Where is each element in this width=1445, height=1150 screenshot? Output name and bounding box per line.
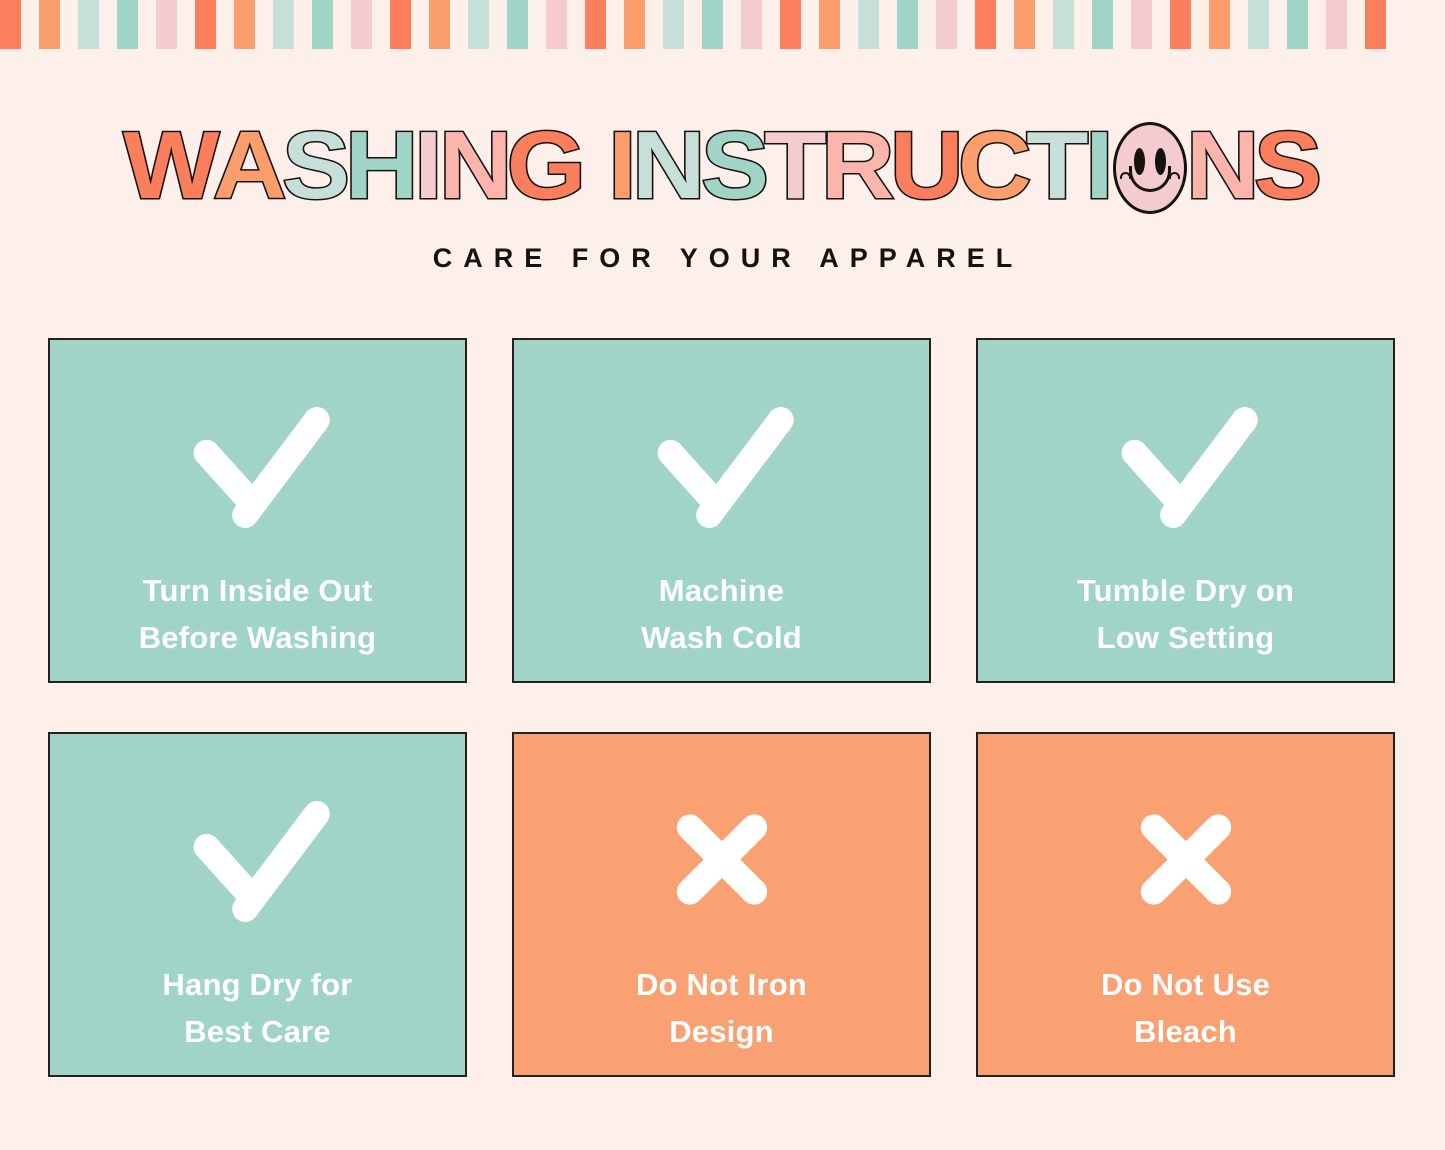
- care-card-5: Do Not IronDesign: [512, 732, 931, 1077]
- title-letter-w-0: W: [123, 118, 218, 214]
- stripe: [1209, 0, 1230, 49]
- smiley-face-icon: [1113, 122, 1187, 214]
- title-letter-n-18: N: [1186, 118, 1258, 214]
- stripe-gap: [372, 0, 390, 49]
- stripe-gap: [918, 0, 936, 49]
- stripe: [858, 0, 879, 49]
- stripe-gap: [1308, 0, 1326, 49]
- stripe: [1053, 0, 1074, 49]
- care-card-line-1: Turn Inside Out: [139, 568, 377, 615]
- stripe-gap: [1152, 0, 1170, 49]
- stripe: [390, 0, 411, 49]
- stripe-gap: [645, 0, 663, 49]
- stripe-gap: [528, 0, 546, 49]
- care-card-6: Do Not UseBleach: [976, 732, 1395, 1077]
- title-letters: WASHINGINSTRUCTINS: [126, 118, 1319, 214]
- stripe: [546, 0, 567, 49]
- stripe-gap: [957, 0, 975, 49]
- stripe-gap: [1074, 0, 1092, 49]
- care-instructions-grid: Turn Inside OutBefore WashingMachineWash…: [48, 338, 1398, 1077]
- stripe-gap: [1347, 0, 1365, 49]
- stripe: [1131, 0, 1152, 49]
- decorative-stripe-band: [0, 0, 1445, 49]
- stripe: [312, 0, 333, 49]
- stripe-gap: [1386, 0, 1404, 49]
- stripe-gap: [333, 0, 351, 49]
- stripe: [39, 0, 60, 49]
- care-card-2: MachineWash Cold: [512, 338, 931, 683]
- stripe: [195, 0, 216, 49]
- stripe-gap: [1035, 0, 1053, 49]
- stripe: [507, 0, 528, 49]
- stripe-gap: [723, 0, 741, 49]
- stripe-gap: [762, 0, 780, 49]
- stripe: [741, 0, 762, 49]
- stripe-gap: [138, 0, 156, 49]
- page-subtitle: CARE FOR YOUR APPAREL: [0, 243, 1445, 274]
- title-letter-s-19: S: [1254, 118, 1321, 214]
- title-letter-u-13: U: [890, 118, 962, 214]
- stripe-gap: [99, 0, 117, 49]
- stripe: [1170, 0, 1191, 49]
- title-letter-t-11: T: [764, 118, 825, 214]
- check-stroke-long: [690, 402, 798, 533]
- stripe: [234, 0, 255, 49]
- check-icon: [188, 804, 328, 914]
- check-icon: [652, 410, 792, 520]
- stripe: [897, 0, 918, 49]
- care-card-line-2: Low Setting: [1077, 615, 1294, 662]
- care-card-line-2: Bleach: [1101, 1009, 1270, 1056]
- stripe: [273, 0, 294, 49]
- care-card-line-2: Best Care: [162, 1009, 352, 1056]
- care-card-label: Do Not IronDesign: [636, 962, 807, 1055]
- stripe-gap: [294, 0, 312, 49]
- title-letter-g-6: G: [507, 118, 585, 214]
- stripe-gap: [684, 0, 702, 49]
- care-card-label: Do Not UseBleach: [1101, 962, 1270, 1055]
- care-card-1: Turn Inside OutBefore Washing: [48, 338, 467, 683]
- care-card-label: MachineWash Cold: [641, 568, 802, 661]
- cross-icon: [1116, 804, 1256, 914]
- stripe: [1248, 0, 1269, 49]
- stripe-gap: [489, 0, 507, 49]
- stripe: [1365, 0, 1386, 49]
- stripe-gap: [255, 0, 273, 49]
- stripe: [1287, 0, 1308, 49]
- check-stroke-long: [226, 796, 334, 927]
- care-card-line-2: Before Washing: [139, 615, 377, 662]
- care-card-line-1: Machine: [641, 568, 802, 615]
- care-card-label: Hang Dry forBest Care: [162, 962, 352, 1055]
- care-card-line-1: Do Not Iron: [636, 962, 807, 1009]
- cross-icon: [652, 804, 792, 914]
- stripe: [78, 0, 99, 49]
- stripe-gap: [606, 0, 624, 49]
- title-letter-i-16: I: [1085, 118, 1112, 214]
- stripe-gap: [216, 0, 234, 49]
- check-stroke-long: [226, 402, 334, 533]
- stripe: [468, 0, 489, 49]
- check-icon: [188, 410, 328, 520]
- title-letter-c-14: C: [958, 118, 1030, 214]
- stripe-gap: [996, 0, 1014, 49]
- page-title: WASHINGINSTRUCTINS: [0, 118, 1445, 214]
- stripe-gap: [1269, 0, 1287, 49]
- stripe-gap: [411, 0, 429, 49]
- stripe: [351, 0, 372, 49]
- stripe: [429, 0, 450, 49]
- stripe-gap: [60, 0, 78, 49]
- stripe-gap: [450, 0, 468, 49]
- care-card-4: Hang Dry forBest Care: [48, 732, 467, 1077]
- stripe-gap: [177, 0, 195, 49]
- stripe: [1014, 0, 1035, 49]
- care-card-label: Tumble Dry onLow Setting: [1077, 568, 1294, 661]
- title-letter-s-10: S: [701, 118, 768, 214]
- stripe-gap: [1113, 0, 1131, 49]
- title-letter-a-1: A: [213, 118, 285, 214]
- stripe-gap: [1191, 0, 1209, 49]
- care-card-label: Turn Inside OutBefore Washing: [139, 568, 377, 661]
- title-letter-t-15: T: [1027, 118, 1088, 214]
- stripe: [702, 0, 723, 49]
- stripe: [936, 0, 957, 49]
- care-card-line-1: Hang Dry for: [162, 962, 352, 1009]
- title-letter-n-5: N: [439, 118, 511, 214]
- care-card-line-1: Tumble Dry on: [1077, 568, 1294, 615]
- care-card-3: Tumble Dry onLow Setting: [976, 338, 1395, 683]
- title-letter-r-12: R: [821, 118, 893, 214]
- title-letter-n-9: N: [632, 118, 704, 214]
- stripe: [780, 0, 801, 49]
- care-card-line-2: Wash Cold: [641, 615, 802, 662]
- stripe-gap: [567, 0, 585, 49]
- stripe: [1326, 0, 1347, 49]
- stripe: [624, 0, 645, 49]
- care-card-line-2: Design: [636, 1009, 807, 1056]
- stripe: [975, 0, 996, 49]
- stripe-gap: [801, 0, 819, 49]
- stripe-gap: [21, 0, 39, 49]
- title-letter-h-3: H: [345, 118, 417, 214]
- check-icon: [1116, 410, 1256, 520]
- care-card-line-1: Do Not Use: [1101, 962, 1270, 1009]
- stripe: [0, 0, 21, 49]
- stripe: [585, 0, 606, 49]
- stripe: [663, 0, 684, 49]
- stripe: [156, 0, 177, 49]
- stripe-gap: [879, 0, 897, 49]
- stripe: [117, 0, 138, 49]
- stripe-gap: [1230, 0, 1248, 49]
- stripe: [1092, 0, 1113, 49]
- check-stroke-long: [1154, 402, 1262, 533]
- title-letter-s-2: S: [282, 118, 349, 214]
- stripe-gap: [840, 0, 858, 49]
- title-letter-i-4: I: [414, 118, 441, 214]
- stripe: [819, 0, 840, 49]
